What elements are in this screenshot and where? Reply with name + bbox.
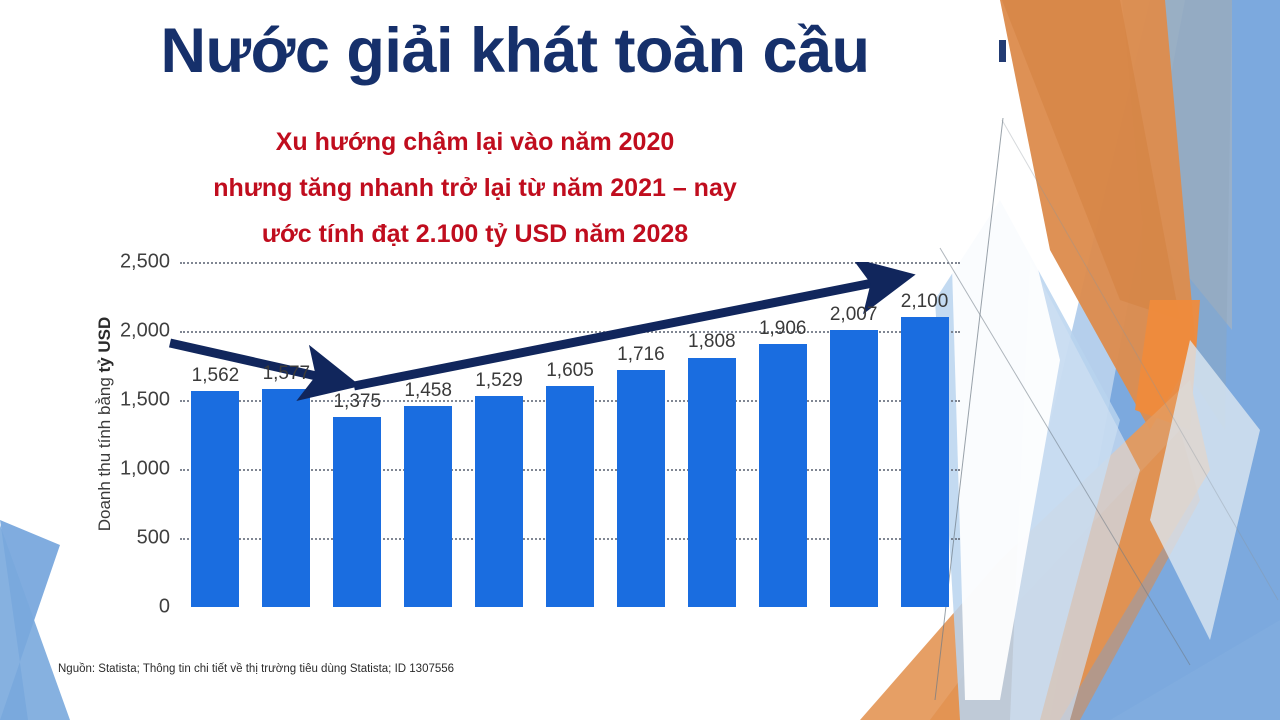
y-axis-tick: 1,500 (80, 389, 170, 412)
bar-2025[interactable] (688, 358, 736, 608)
decor-pale-blue-2 (1010, 260, 1140, 720)
decor-grayblue-panel-2 (1140, 0, 1232, 430)
source-note: Nguồn: Statista; Thông tin chi tiết về t… (58, 663, 454, 675)
y-axis-tick: 2,000 (80, 320, 170, 343)
decor-orange-sweep-2 (930, 430, 1200, 720)
subtitle-block: Xu hướng chậm lại vào năm 2020 nhưng tăn… (60, 120, 890, 257)
bar-2018[interactable] (191, 391, 239, 607)
bar-2024[interactable] (617, 370, 665, 607)
decor-hairline-2 (940, 248, 1190, 665)
bar-2020[interactable] (333, 417, 381, 607)
decor-right-blue-field (1050, 0, 1280, 720)
decor-hairline-3 (1002, 120, 1278, 600)
bar-value-label-2028: 2,100 (880, 291, 970, 313)
bar-2026[interactable] (759, 344, 807, 607)
bar-2022[interactable] (475, 396, 523, 607)
bar-value-label-2019: 1,577 (241, 363, 331, 385)
subtitle-line-2: nhưng tăng nhanh trở lại từ năm 2021 – n… (60, 166, 890, 212)
subtitle-line-3: ước tính đạt 2.100 tỷ USD năm 2028 (60, 212, 890, 258)
decor-pale-blue-left (935, 200, 1120, 720)
decor-white-wedge (950, 120, 1060, 700)
y-axis-tick: 1,000 (80, 458, 170, 481)
bar-2027[interactable] (830, 330, 878, 607)
bar-2023[interactable] (546, 386, 594, 607)
decor-right-blue-field-2 (980, 0, 1280, 720)
decor-pale-blue-3 (1150, 340, 1260, 640)
bar-2021[interactable] (404, 406, 452, 607)
decor-grayblue-panel (1122, 0, 1232, 330)
revenue-bar-chart: Doanh thu tính bằng tỷ USD 05001,0001,50… (58, 262, 958, 652)
gridline (180, 262, 960, 264)
decor-left-blue-wedge (0, 520, 60, 720)
y-axis-tick: 500 (80, 527, 170, 550)
y-axis-tick: 0 (80, 596, 170, 619)
slide-canvas: Nước giải khát toàn cầu Xu hướng chậm lạ… (0, 0, 1280, 720)
decor-orange-accent (1135, 300, 1200, 430)
page-title: Nước giải khát toàn cầu (0, 18, 1030, 84)
bar-2028[interactable] (901, 317, 949, 607)
y-axis-tick-labels: 05001,0001,5002,0002,500 (78, 262, 170, 607)
subtitle-line-1: Xu hướng chậm lại vào năm 2020 (60, 120, 890, 166)
bar-2019[interactable] (262, 389, 310, 607)
